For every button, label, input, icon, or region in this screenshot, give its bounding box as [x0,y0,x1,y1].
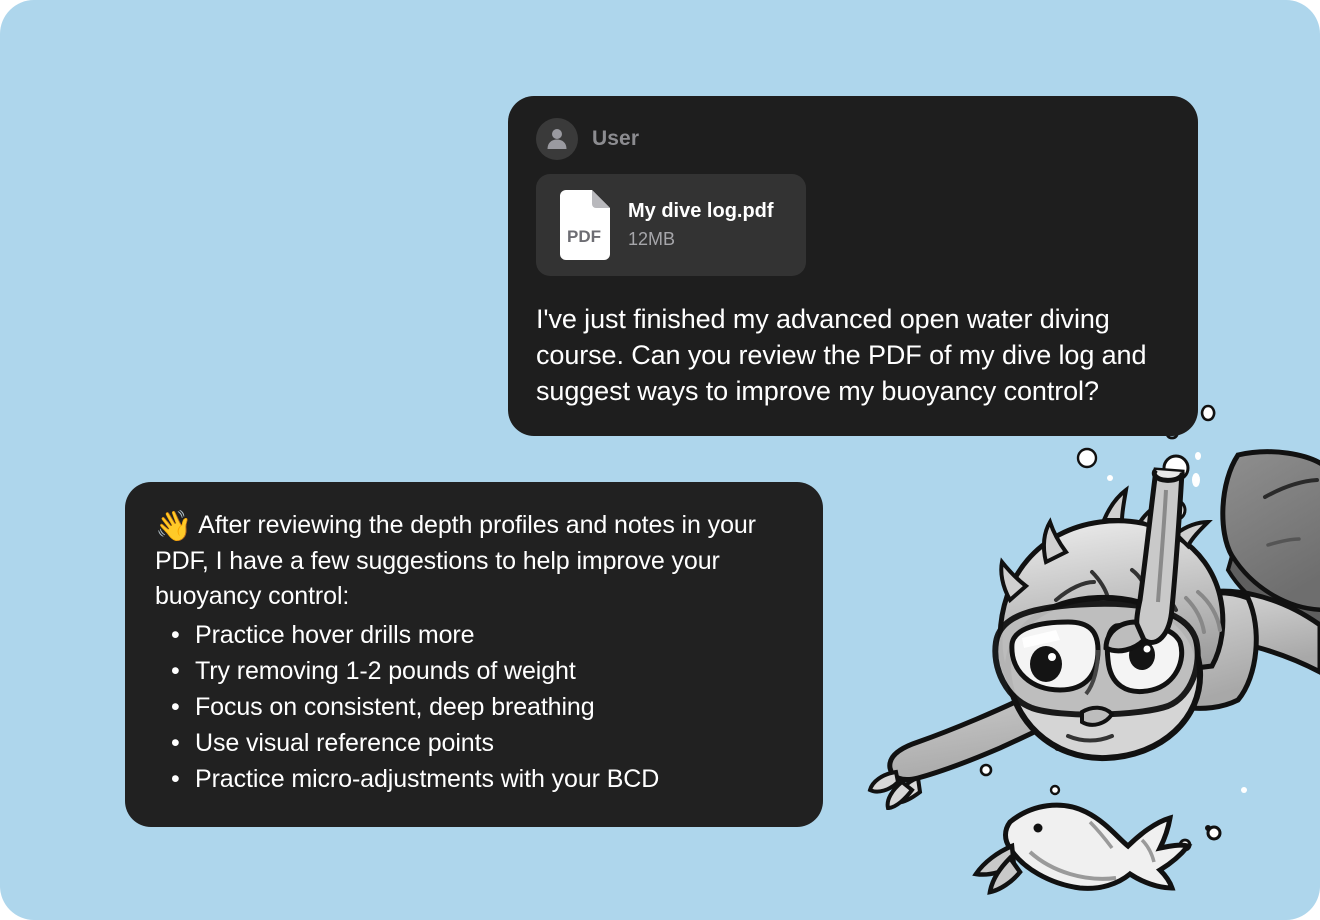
svg-text:PDF: PDF [567,227,601,246]
pdf-attachment-card[interactable]: PDF My dive log.pdf 12MB [536,174,806,276]
user-sender-name: User [592,127,639,151]
pdf-file-size: 12MB [628,229,774,251]
user-message-text: I've just finished my advanced open wate… [536,302,1170,410]
assistant-suggestion-list: Practice hover drills more Try removing … [155,617,793,797]
pdf-file-icon: PDF [556,190,610,260]
list-item: Practice micro-adjustments with your BCD [195,761,793,797]
pdf-file-meta: My dive log.pdf 12MB [628,199,774,251]
list-item: Focus on consistent, deep breathing [195,689,793,725]
waving-hand-emoji: 👋 [155,510,192,543]
assistant-intro-text: 👋After reviewing the depth profiles and … [155,508,793,615]
screenshot-canvas: User PDF My dive log.pdf 12MB I've just … [0,0,1320,920]
person-avatar-icon [536,118,578,160]
list-item: Practice hover drills more [195,617,793,653]
pdf-file-name: My dive log.pdf [628,199,774,223]
list-item: Use visual reference points [195,725,793,761]
list-item: Try removing 1-2 pounds of weight [195,653,793,689]
user-message-bubble: User PDF My dive log.pdf 12MB I've just … [508,96,1198,436]
fish-figure [976,805,1188,892]
user-message-header: User [536,118,1170,160]
diver-figure [870,452,1320,808]
assistant-message-bubble: 👋After reviewing the depth profiles and … [125,482,823,827]
assistant-intro-body: After reviewing the depth profiles and n… [155,511,756,610]
bubbles-group [981,377,1247,885]
